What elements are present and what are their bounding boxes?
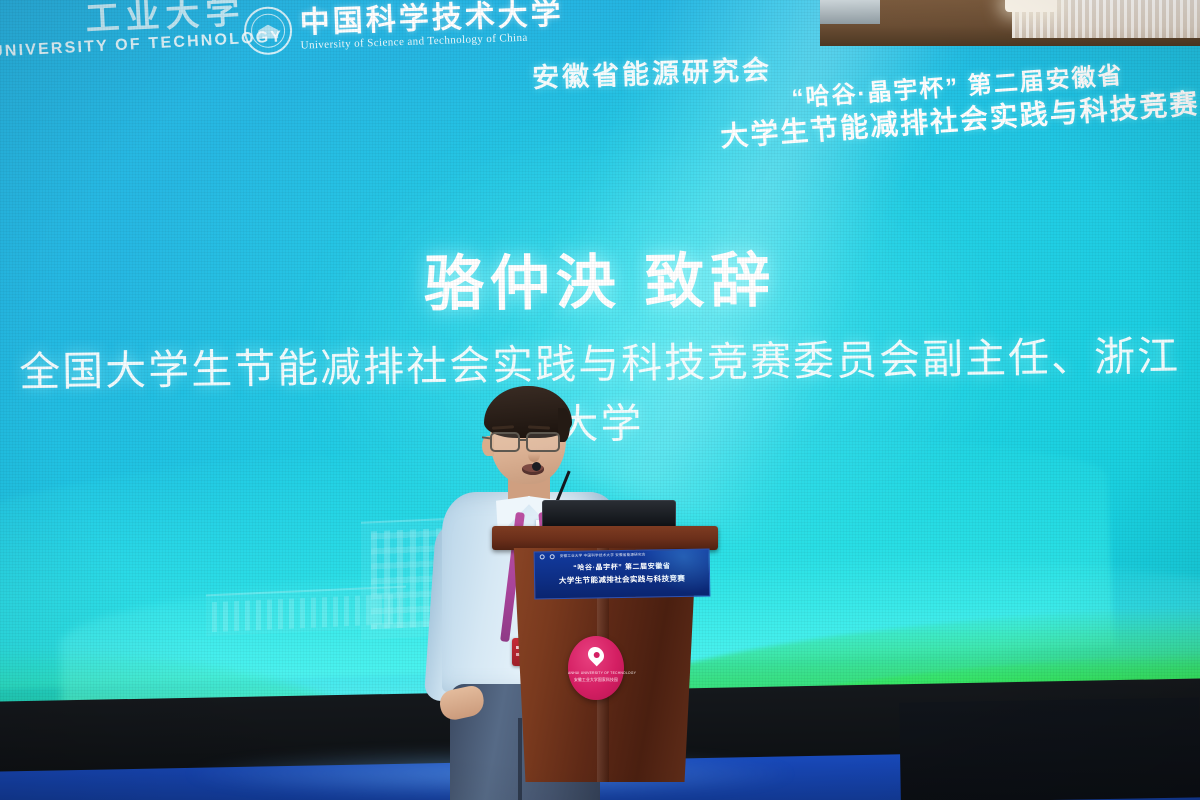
- podium-sign-logos-text: 安徽工业大学 中国科学技术大学 安徽省能源研究会: [560, 553, 646, 559]
- podium-sign-line2: 大学生节能减排社会实践与科技竞赛: [535, 572, 709, 586]
- conference-stage-photo: 工业大学 UNIVERSITY OF TECHNOLOGY 中国科学技术大学 U…: [0, 0, 1200, 800]
- logo-anhui-university-of-technology: 工业大学 UNIVERSITY OF TECHNOLOGY: [0, 0, 284, 62]
- speaker-hair: [484, 386, 572, 438]
- sign-logo-dot-2: [550, 554, 555, 559]
- glasses-lens-left: [490, 432, 520, 452]
- logo-ustc: 中国科学技术大学 University of Science and Techn…: [243, 0, 564, 56]
- sign-logo-dot-1: [540, 554, 545, 559]
- podium-sign-logos: 安徽工业大学 中国科学技术大学 安徽省能源研究会: [535, 549, 709, 559]
- podium: 安徽工业大学 中国科学技术大学 安徽省能源研究会 “哈谷·晶宇杯” 第二届安徽省…: [492, 500, 718, 782]
- ceiling-light: [1005, 0, 1057, 12]
- speaker-nose: [528, 448, 540, 462]
- ceiling-panel: [820, 0, 880, 24]
- ustc-logo-text: 中国科学技术大学 University of Science and Techn…: [299, 0, 564, 52]
- ustc-seal-icon: [243, 6, 293, 56]
- floor-shadow-right: [899, 697, 1200, 800]
- podium-emblem: ANHUI UNIVERSITY OF TECHNOLOGY 安徽工业大学国家科…: [568, 636, 624, 700]
- microphone-icon: [532, 462, 541, 471]
- slide-title: 骆仲泱 致辞: [0, 227, 1200, 329]
- podium-banner-sign: 安徽工业大学 中国科学技术大学 安徽省能源研究会 “哈谷·晶宇杯” 第二届安徽省…: [534, 548, 711, 599]
- emblem-line2: 安徽工业大学国家科技园: [568, 678, 624, 683]
- emblem-line1: ANHUI UNIVERSITY OF TECHNOLOGY: [568, 671, 624, 675]
- podium-top-surface: [492, 526, 718, 550]
- podium-sign-line1: “哈谷·晶宇杯” 第二届安徽省: [535, 560, 709, 573]
- emblem-logo-icon: [585, 644, 608, 667]
